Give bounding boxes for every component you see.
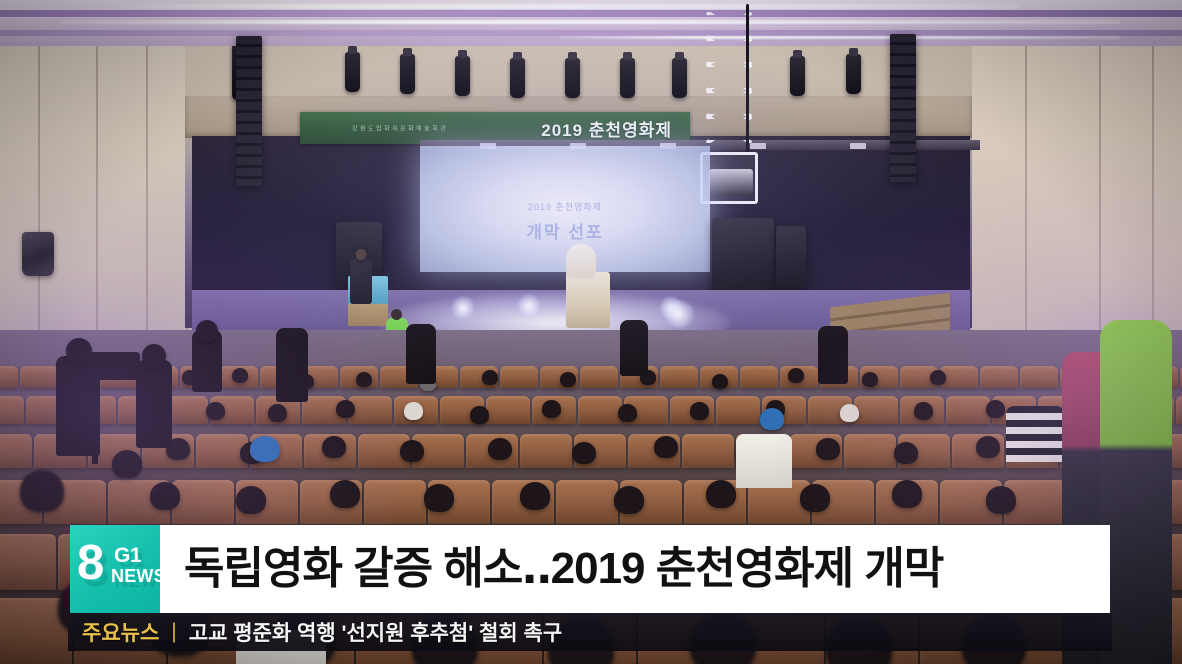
- speaker-at-podium: [566, 244, 596, 278]
- logo-news-word: NEWS: [111, 567, 160, 585]
- stage-banner-subtext: 강원도립화목문화예술회관: [352, 124, 448, 133]
- photographer: [818, 326, 848, 384]
- ticker-separator: |: [159, 620, 188, 644]
- projection-screen: 2019 춘천영화제 개막 선포: [420, 146, 710, 272]
- stage-speaker-right-2: [776, 226, 806, 300]
- stage-banner-title: 2019 춘천영화제: [541, 116, 672, 141]
- projection-line-1: 2019 춘천영화제: [420, 200, 710, 213]
- audience-head: [268, 404, 287, 422]
- presenter-left: [350, 258, 372, 304]
- audience-torso-striped: [1006, 406, 1064, 462]
- audience-head: [690, 402, 709, 420]
- audience-head: [614, 486, 644, 514]
- audience-head: [930, 370, 946, 385]
- audience-head: [914, 402, 933, 420]
- audience-head: [236, 486, 266, 514]
- audience-head: [986, 400, 1005, 418]
- projection-line-2: 개막 선포: [420, 218, 710, 243]
- moving-head-light: [452, 296, 474, 320]
- audience-head: [654, 436, 678, 458]
- audience-head: [572, 442, 596, 464]
- audience-head: [356, 372, 372, 387]
- moving-head-light: [664, 300, 694, 328]
- audience-member-head: [196, 320, 218, 342]
- audience-head: [800, 484, 830, 512]
- audience-head: [788, 368, 804, 383]
- audience-head: [424, 484, 454, 512]
- ticker-text: 고교 평준화 역행 '선지원 후추첨' 철회 촉구: [189, 617, 562, 647]
- logo-hour: 8: [77, 539, 102, 588]
- spotlight-fixture: [846, 54, 861, 94]
- audience-head: [862, 372, 878, 387]
- audience-head: [404, 402, 423, 420]
- audience-head: [112, 450, 142, 478]
- spotlight-fixture: [455, 56, 470, 96]
- audience-head: [232, 368, 248, 383]
- audience-head: [322, 436, 346, 458]
- audience-head: [816, 438, 840, 460]
- audience-head: [482, 370, 498, 385]
- audience-head: [488, 438, 512, 460]
- audience-head: [840, 404, 859, 422]
- photographer: [406, 324, 436, 384]
- ticker-label: 주요뉴스: [68, 617, 159, 647]
- spotlight-fixture: [345, 52, 360, 92]
- wall-speaker-left: [22, 232, 54, 276]
- camera-tripod: [92, 378, 98, 464]
- audience-head: [542, 400, 561, 418]
- moving-head-light: [518, 294, 540, 318]
- audience-head: [976, 436, 1000, 458]
- audience-head: [400, 440, 424, 462]
- line-array-speaker-left: [236, 36, 262, 186]
- photographer: [276, 328, 308, 402]
- audience-head: [712, 374, 728, 389]
- audience-head: [206, 402, 225, 420]
- spotlight-fixture: [400, 54, 415, 94]
- photographer: [620, 320, 648, 376]
- spotlight-fixture: [620, 58, 635, 98]
- seat-row: [0, 366, 1182, 388]
- headline-text: 독립영화 갈증 해소‥2019 춘천영화제 개막: [160, 547, 943, 591]
- logo-network: G1: [114, 545, 141, 566]
- audience-head-blue-cap: [250, 436, 280, 462]
- audience-torso-white: [736, 434, 792, 488]
- podium-center: [566, 272, 610, 328]
- video-camera: [88, 352, 140, 380]
- foreground-head: [20, 470, 64, 512]
- audience-head: [892, 480, 922, 508]
- channel-logo[interactable]: 8 G1 NEWS: [70, 525, 160, 613]
- broadcast-screenshot: 강원도립화목문화예술회관 2019 춘천영화제: [0, 0, 1182, 664]
- spotlight-fixture: [510, 58, 525, 98]
- headline-bar[interactable]: 독립영화 갈증 해소‥2019 춘천영화제 개막: [160, 525, 1110, 613]
- audience-head: [706, 480, 736, 508]
- spotlight-fixture: [565, 58, 580, 98]
- audience-head: [470, 406, 489, 424]
- audience-head: [618, 404, 637, 422]
- audience-head: [336, 400, 355, 418]
- audience-head: [560, 372, 576, 387]
- audience-head: [520, 482, 550, 510]
- camera-operator: [136, 360, 172, 448]
- audience-head: [330, 480, 360, 508]
- spotlight-fixture: [672, 58, 687, 98]
- audience-head: [986, 486, 1016, 514]
- camera-operator-head: [142, 344, 166, 368]
- audience-head: [150, 482, 180, 510]
- ceiling-projector: [709, 169, 753, 195]
- audience-head: [894, 442, 918, 464]
- line-array-speaker-right: [890, 34, 916, 182]
- news-ticker-bar[interactable]: 주요뉴스 | 고교 평준화 역행 '선지원 후추첨' 철회 촉구: [68, 613, 1112, 651]
- spotlight-fixture: [790, 56, 805, 96]
- audience-head-blue-cap: [760, 408, 784, 430]
